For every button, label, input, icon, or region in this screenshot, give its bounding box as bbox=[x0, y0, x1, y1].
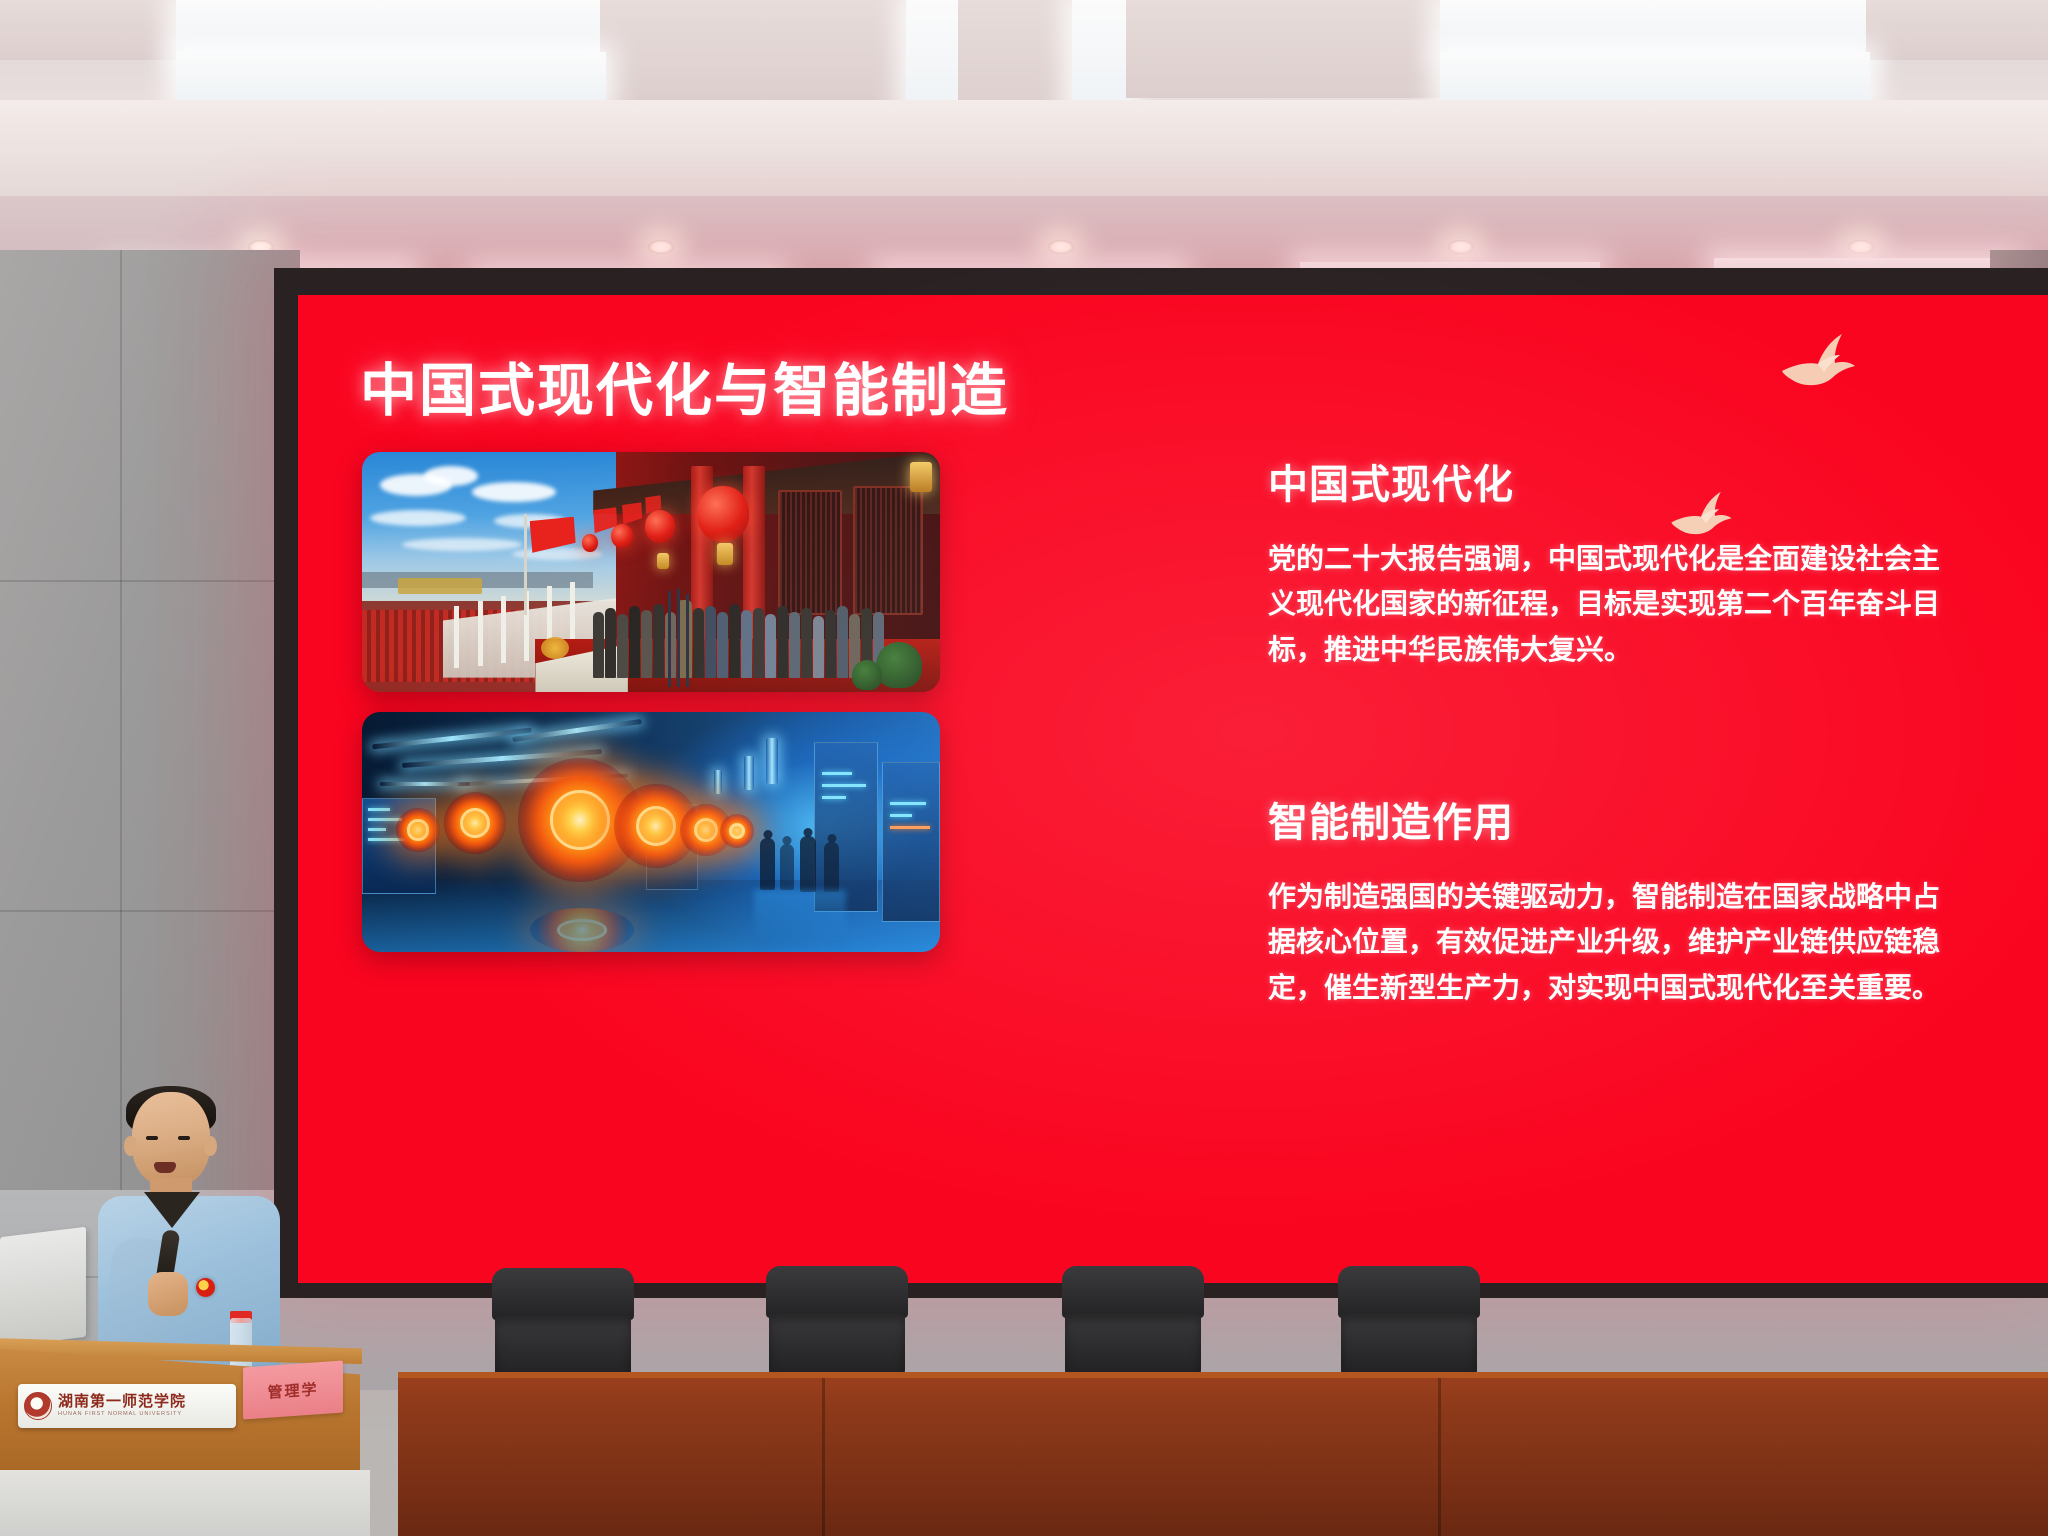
ceiling-light-panel bbox=[1440, 0, 1870, 54]
conference-table bbox=[398, 1378, 2048, 1536]
block-heading: 智能制造作用 bbox=[1268, 790, 1958, 848]
plaque-name-cn: 湖南第一师范学院 bbox=[58, 1394, 186, 1410]
conference-chair bbox=[1062, 1266, 1204, 1378]
block-body: 作为制造强国的关键驱动力，智能制造在国家战略中占据核心位置，有效促进产业升级，维… bbox=[1268, 874, 1958, 1010]
conference-chair bbox=[766, 1266, 908, 1378]
slide-title: 中国式现代化与智能制造 bbox=[360, 345, 1009, 427]
conference-chair bbox=[1338, 1266, 1480, 1378]
ceiling-light-panel bbox=[176, 52, 606, 104]
dove-icon bbox=[1778, 331, 1858, 393]
slide-image-smart-manufacturing bbox=[362, 712, 940, 952]
ceiling-light-panel bbox=[176, 0, 606, 56]
university-seal-icon bbox=[24, 1392, 52, 1420]
block-2: 智能制造作用 作为制造强国的关键驱动力，智能制造在国家战略中占据核心位置，有效促… bbox=[1268, 790, 1958, 1010]
glowing-gear-icon bbox=[530, 908, 634, 952]
slide-image-founding-ceremony bbox=[362, 452, 940, 692]
block-1: 中国式现代化 党的二十大报告强调，中国式现代化是全面建设社会主义现代化国家的新征… bbox=[1268, 452, 1958, 672]
conference-chair bbox=[492, 1268, 634, 1380]
glowing-gear-icon bbox=[396, 808, 440, 852]
glowing-gear-icon bbox=[720, 814, 754, 848]
name-card-text: 管理学 bbox=[267, 1378, 318, 1403]
podium-base bbox=[0, 1470, 370, 1536]
name-card: 管理学 bbox=[243, 1361, 343, 1420]
slide-text-column: 中国式现代化 党的二十大报告强调，中国式现代化是全面建设社会主义现代化国家的新征… bbox=[1268, 452, 1958, 1010]
block-body: 党的二十大报告强调，中国式现代化是全面建设社会主义现代化国家的新征程，目标是实现… bbox=[1268, 536, 1958, 672]
recessed-downlight bbox=[1048, 240, 1074, 254]
party-emblem-pin bbox=[196, 1278, 215, 1297]
recessed-downlight bbox=[1848, 240, 1874, 254]
university-plaque: 湖南第一师范学院 HUNAN FIRST NORMAL UNIVERSITY bbox=[18, 1384, 236, 1428]
recessed-downlight bbox=[1448, 240, 1474, 254]
ceiling-light-panel bbox=[1440, 52, 1870, 104]
presentation-screen[interactable]: 中国式现代化 党的二十大报告强调，中国式现代化是全面建设社会主义现代化国家的新征… bbox=[298, 295, 2048, 1283]
ceiling bbox=[0, 0, 2048, 278]
block-heading: 中国式现代化 bbox=[1268, 452, 1958, 510]
plaque-name-en: HUNAN FIRST NORMAL UNIVERSITY bbox=[58, 1412, 186, 1418]
glowing-gear-icon bbox=[444, 792, 506, 854]
laptop-on-podium bbox=[0, 1227, 86, 1348]
ceiling-light-panel bbox=[1072, 0, 1128, 116]
recessed-downlight bbox=[648, 240, 674, 254]
lecture-hall-scene: 中国式现代化 党的二十大报告强调，中国式现代化是全面建设社会主义现代化国家的新征… bbox=[0, 0, 2048, 1536]
